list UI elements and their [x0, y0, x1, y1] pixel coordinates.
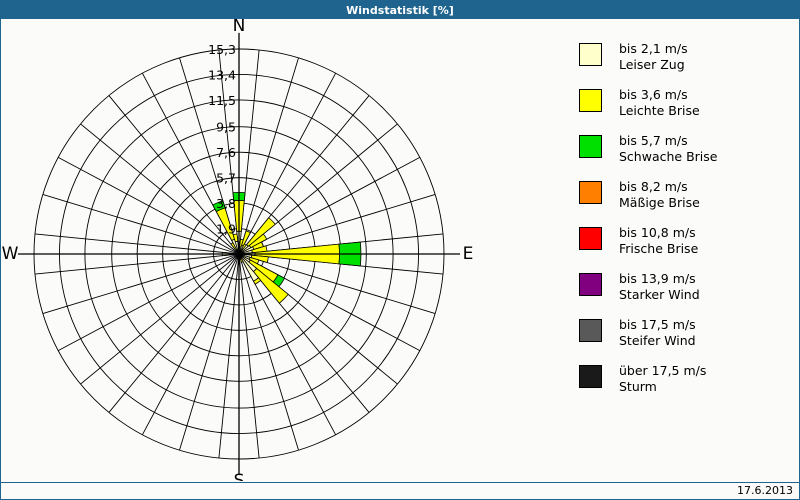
legend-label: über 17,5 m/sSturm: [619, 363, 706, 394]
grid-spoke: [179, 254, 239, 450]
legend-color-swatch: [579, 43, 602, 66]
legend-description: Schwache Brise: [619, 149, 717, 165]
legend-description: Mäßige Brise: [619, 195, 700, 211]
legend-description: Starker Wind: [619, 287, 700, 303]
wind-rose-svg: 1,93,85,77,69,511,513,415,3 NESW: [1, 19, 561, 481]
legend-color-swatch: [579, 365, 602, 388]
legend-range: bis 2,1 m/s: [619, 41, 688, 57]
legend-color-swatch: [579, 89, 602, 112]
legend-color-swatch: [579, 319, 602, 342]
legend-label: bis 10,8 m/sFrische Brise: [619, 225, 698, 256]
legend-description: Steifer Wind: [619, 333, 696, 349]
footer-divider: [1, 482, 799, 483]
page-title: Windstatistik [%]: [346, 4, 454, 17]
legend-range: bis 10,8 m/s: [619, 225, 698, 241]
legend-range: bis 17,5 m/s: [619, 317, 696, 333]
window-body: 1,93,85,77,69,511,513,415,3 NESW bis 2,1…: [1, 19, 799, 499]
legend: bis 2,1 m/sLeiser Zugbis 3,6 m/sLeichte …: [579, 41, 794, 409]
compass-label-east: E: [463, 244, 474, 264]
legend-label: bis 3,6 m/sLeichte Brise: [619, 87, 700, 118]
legend-range: über 17,5 m/s: [619, 363, 706, 379]
grid-spoke: [43, 254, 239, 314]
radial-tick-label: 11,5: [208, 93, 236, 108]
radial-tick-label: 15,3: [208, 42, 236, 57]
radial-tick-labels: 1,93,85,77,69,511,513,415,3: [208, 42, 236, 237]
legend-color-swatch: [579, 181, 602, 204]
footer-date: 17.6.2013: [737, 484, 793, 497]
radial-tick-label: 7,6: [216, 145, 236, 160]
polar-axes: [18, 33, 460, 475]
legend-label: bis 8,2 m/sMäßige Brise: [619, 179, 700, 210]
legend-label: bis 5,7 m/sSchwache Brise: [619, 133, 717, 164]
radial-tick-label: 3,8: [216, 196, 236, 211]
compass-label-north: N: [233, 19, 246, 36]
grid-spoke: [109, 254, 239, 412]
compass-label-west: W: [2, 244, 19, 264]
legend-description: Sturm: [619, 379, 706, 395]
legend-item[interactable]: bis 13,9 m/sStarker Wind: [579, 271, 794, 310]
legend-label: bis 13,9 m/sStarker Wind: [619, 271, 700, 302]
legend-range: bis 13,9 m/s: [619, 271, 700, 287]
grid-spoke: [81, 254, 239, 384]
legend-label: bis 2,1 m/sLeiser Zug: [619, 41, 688, 72]
legend-item[interactable]: bis 5,7 m/sSchwache Brise: [579, 133, 794, 172]
compass-label-south: S: [234, 471, 245, 481]
legend-color-swatch: [579, 135, 602, 158]
legend-item[interactable]: bis 2,1 m/sLeiser Zug: [579, 41, 794, 80]
legend-range: bis 8,2 m/s: [619, 179, 700, 195]
radial-tick-label: 1,9: [216, 222, 236, 237]
radial-tick-label: 5,7: [216, 171, 236, 186]
legend-description: Leichte Brise: [619, 103, 700, 119]
legend-item[interactable]: bis 17,5 m/sSteifer Wind: [579, 317, 794, 356]
legend-item[interactable]: bis 8,2 m/sMäßige Brise: [579, 179, 794, 218]
chart-window: Windstatistik [%] 1,93,85,77,69,511,513,…: [0, 0, 800, 500]
legend-item[interactable]: bis 10,8 m/sFrische Brise: [579, 225, 794, 264]
legend-range: bis 5,7 m/s: [619, 133, 717, 149]
legend-range: bis 3,6 m/s: [619, 87, 700, 103]
grid-spoke: [43, 194, 239, 254]
radial-tick-label: 9,5: [216, 120, 236, 135]
legend-color-swatch: [579, 227, 602, 250]
legend-description: Frische Brise: [619, 241, 698, 257]
window-title-bar: Windstatistik [%]: [1, 1, 799, 19]
legend-description: Leiser Zug: [619, 57, 688, 73]
wind-rose-chart: 1,93,85,77,69,511,513,415,3 NESW: [1, 19, 561, 481]
legend-item[interactable]: bis 3,6 m/sLeichte Brise: [579, 87, 794, 126]
legend-item[interactable]: über 17,5 m/sSturm: [579, 363, 794, 402]
legend-color-swatch: [579, 273, 602, 296]
legend-label: bis 17,5 m/sSteifer Wind: [619, 317, 696, 348]
radial-tick-label: 13,4: [208, 67, 236, 82]
